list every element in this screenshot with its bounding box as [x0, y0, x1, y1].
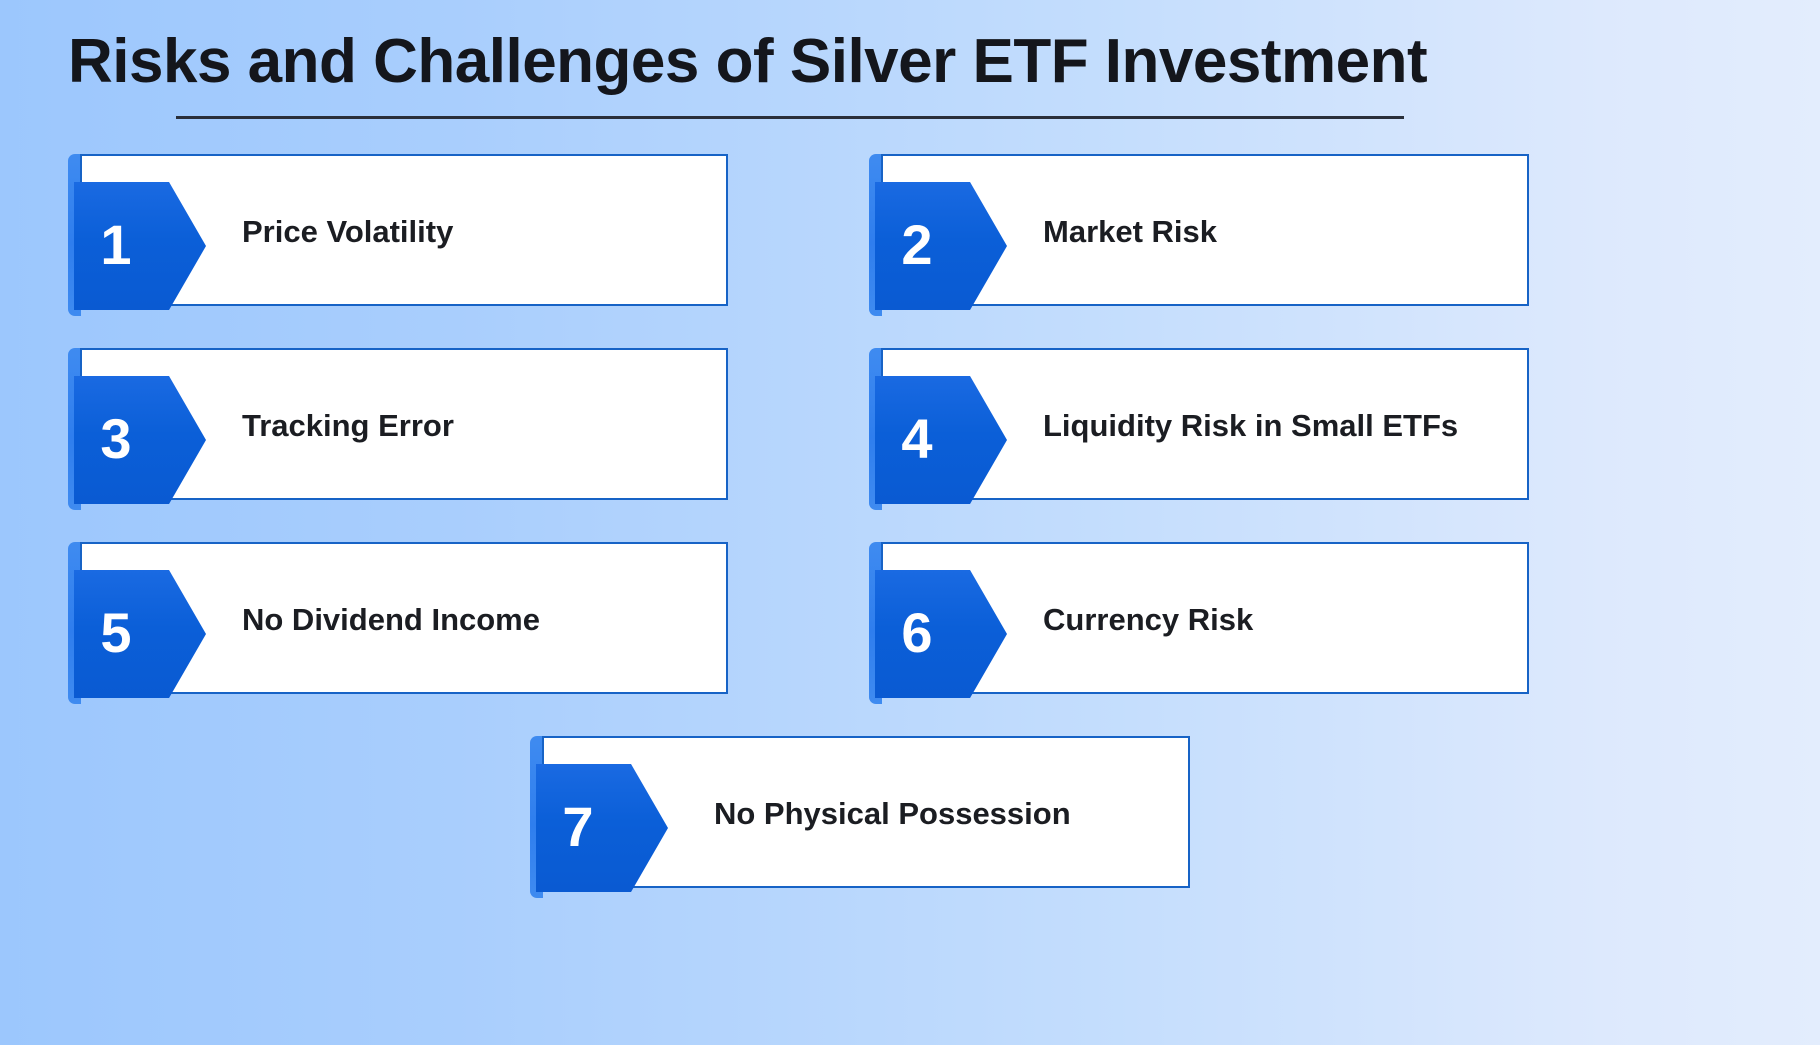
card-slot-6: Currency Risk 6: [869, 536, 1629, 726]
card-slot-2: Market Risk 2: [869, 148, 1629, 338]
risk-card-label: No Dividend Income: [242, 544, 540, 696]
infographic-canvas: Risks and Challenges of Silver ETF Inves…: [0, 0, 1820, 1045]
card-number: 4: [875, 411, 955, 467]
risk-card-grid: Price Volatility 1 Market Risk 2: [0, 148, 1820, 920]
title-block: Risks and Challenges of Silver ETF Inves…: [0, 26, 1820, 98]
card-number: 6: [875, 605, 955, 661]
card-row-4: No Physical Possession 7: [0, 730, 1820, 920]
card-slot-5: No Dividend Income 5: [68, 536, 828, 726]
card-number: 3: [74, 411, 154, 467]
card-row-1: Price Volatility 1 Market Risk 2: [0, 148, 1820, 338]
card-number: 5: [74, 605, 154, 661]
title-underline-divider: [176, 116, 1404, 119]
risk-card-label: Tracking Error: [242, 350, 454, 502]
page-title: Risks and Challenges of Silver ETF Inves…: [0, 26, 1820, 98]
risk-card-label: Liquidity Risk in Small ETFs: [1043, 350, 1458, 502]
risk-card-label: No Physical Possession: [714, 738, 1071, 890]
risk-card-label: Currency Risk: [1043, 544, 1253, 696]
card-number: 7: [536, 799, 616, 855]
card-number: 2: [875, 217, 955, 273]
risk-card-label: Price Volatility: [242, 156, 453, 308]
card-slot-4: Liquidity Risk in Small ETFs 4: [869, 342, 1629, 532]
risk-card-label: Market Risk: [1043, 156, 1217, 308]
card-row-3: No Dividend Income 5 Currency Risk 6: [0, 536, 1820, 726]
card-row-2: Tracking Error 3 Liquidity Risk in Small…: [0, 342, 1820, 532]
card-number: 1: [74, 217, 154, 273]
card-slot-3: Tracking Error 3: [68, 342, 828, 532]
card-slot-7: No Physical Possession 7: [530, 730, 1290, 920]
card-slot-1: Price Volatility 1: [68, 148, 828, 338]
